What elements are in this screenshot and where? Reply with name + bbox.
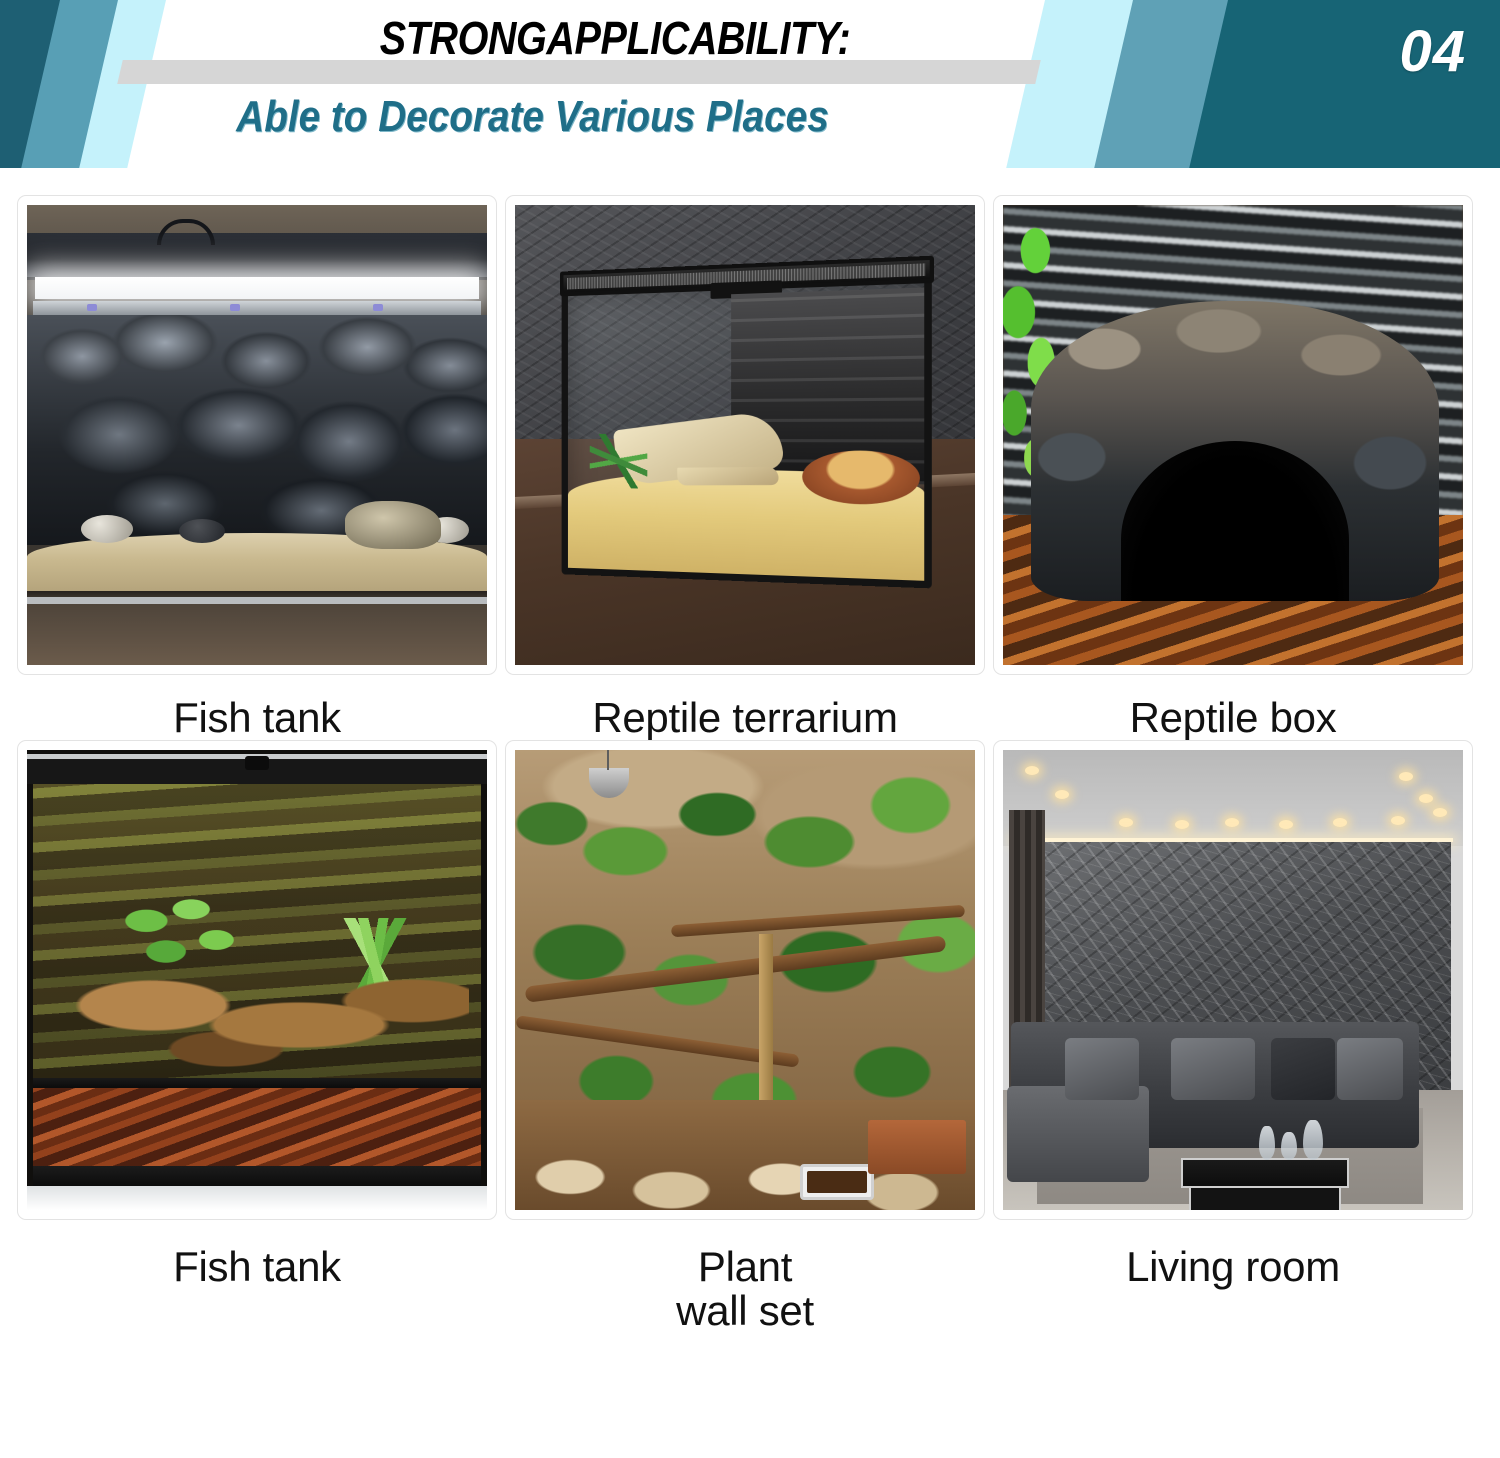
driftwood-decor: [64, 938, 469, 1088]
planter-pot: [868, 1120, 966, 1174]
glass-terrarium-image: [515, 205, 975, 665]
gallery-image-card[interactable]: [994, 741, 1472, 1219]
gallery-caption: Living room: [994, 1219, 1472, 1290]
coffee-table: [1181, 1158, 1349, 1188]
gallery-cell-reptile-box: Reptile box: [994, 196, 1482, 741]
application-gallery-grid: Fish tank Reptile terrarium: [0, 196, 1500, 1334]
gallery-image-card[interactable]: [506, 741, 984, 1219]
gallery-cell-plant-wall-set: Plant wall set: [506, 741, 994, 1334]
gallery-image-card[interactable]: [18, 741, 496, 1219]
gallery-cell-fish-tank-2: Fish tank: [18, 741, 506, 1334]
jungle-plant-wall-image: [515, 750, 975, 1210]
step-number-badge: 04: [1399, 18, 1466, 85]
gallery-caption: Plant wall set: [506, 1219, 984, 1334]
plant-decor-icon: [590, 434, 648, 489]
page-subtitle: Able to Decorate Various Places: [99, 92, 966, 142]
gallery-caption-line1: Plant: [698, 1243, 792, 1290]
rock-cave-hide-image: [1003, 205, 1463, 665]
rock-cave-hide: [1031, 301, 1439, 601]
page-title: STRONGAPPLICABILITY:: [258, 11, 972, 65]
page-header: STRONGAPPLICABILITY: Able to Decorate Va…: [0, 0, 1500, 172]
gallery-cell-reptile-terrarium: Reptile terrarium: [506, 196, 994, 741]
gallery-image-card[interactable]: [994, 196, 1472, 674]
gallery-caption-line2: wall set: [676, 1287, 814, 1334]
modern-living-room-image: [1003, 750, 1463, 1210]
gallery-cell-fish-tank-1: Fish tank: [18, 196, 506, 741]
gallery-caption: Fish tank: [18, 674, 496, 741]
gallery-caption: Fish tank: [18, 1219, 496, 1290]
gallery-image-card[interactable]: [18, 196, 496, 674]
aquarium-dark-rock-image: [27, 205, 487, 665]
feeding-tray: [800, 1164, 874, 1200]
gallery-caption: Reptile terrarium: [506, 674, 984, 741]
mossy-terrarium-image: [27, 750, 487, 1210]
gallery-image-card[interactable]: [506, 196, 984, 674]
gallery-cell-living-room: Living room: [994, 741, 1482, 1334]
gallery-caption: Reptile box: [994, 674, 1472, 741]
